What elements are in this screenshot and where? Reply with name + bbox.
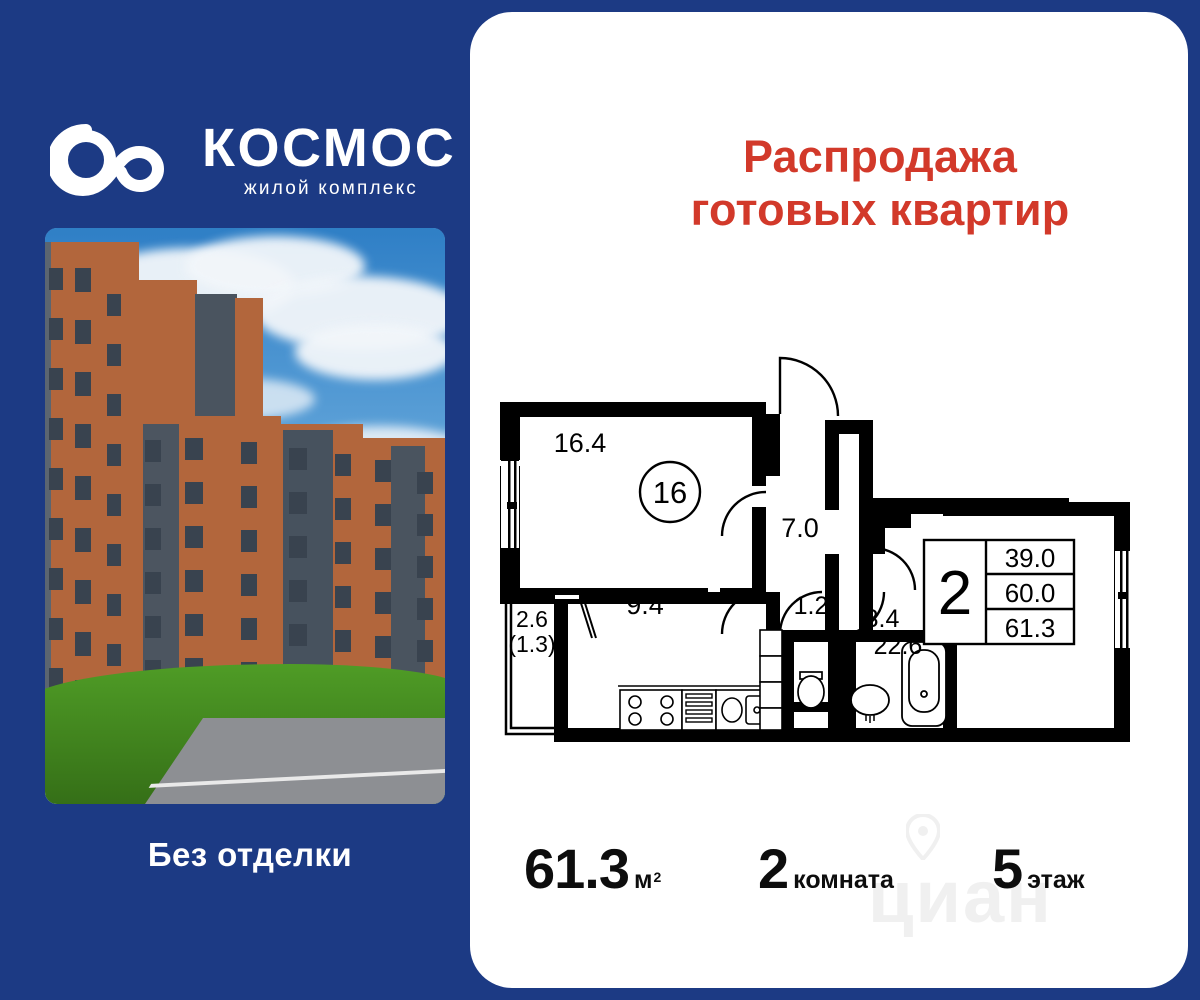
stat-area: 61.3м2 bbox=[524, 836, 661, 901]
window-grid bbox=[45, 228, 445, 728]
info-living-area: 39.0 bbox=[1005, 543, 1056, 573]
room-area-hall: 7.0 bbox=[781, 513, 819, 543]
room-area-balcony: 2.6 bbox=[516, 606, 548, 632]
poster-root: КОСМОС жилой комплекс bbox=[0, 0, 1200, 1000]
promo-headline-line1: Распродажа bbox=[600, 130, 1160, 183]
brand-title: КОСМОС bbox=[202, 120, 456, 176]
white-card: Распродажа готовых квартир bbox=[470, 12, 1188, 988]
info-total-area: 61.3 bbox=[1005, 613, 1056, 643]
room-marker-16: 16 bbox=[653, 475, 687, 510]
room-area-bathroom: 3.4 bbox=[865, 605, 900, 633]
room-area-kitchen: 9.4 bbox=[626, 590, 664, 620]
promo-headline-line2: готовых квартир bbox=[600, 183, 1160, 236]
room-area-balcony-reduced: (1.3) bbox=[508, 631, 555, 657]
left-blue-panel: КОСМОС жилой комплекс bbox=[0, 0, 500, 1000]
stat-rooms: 2комната bbox=[758, 836, 894, 901]
brand-logo: КОСМОС жилой комплекс bbox=[50, 118, 450, 214]
stat-floor: 5этаж bbox=[992, 836, 1085, 901]
stat-area-value: 61.3 bbox=[524, 837, 629, 900]
infinity-loop-icon bbox=[50, 124, 180, 196]
stat-floor-value: 5 bbox=[992, 837, 1022, 900]
residential-complex-photo bbox=[45, 228, 445, 804]
stat-floor-label: этаж bbox=[1027, 866, 1084, 894]
info-area-without-balcony: 60.0 bbox=[1005, 578, 1056, 608]
stat-rooms-label: комната bbox=[793, 866, 894, 894]
promo-headline: Распродажа готовых квартир bbox=[600, 130, 1160, 236]
room-area-bedroom: 16.4 bbox=[554, 428, 607, 458]
room-area-living-room: 22.6 bbox=[874, 632, 923, 660]
floorplan: 16.4 16 7.0 9.4 1.2 3.4 22.6 2.6 (1.3) 2… bbox=[470, 342, 1188, 742]
finish-type-caption: Без отделки bbox=[0, 836, 500, 874]
stat-area-unit: м bbox=[634, 866, 653, 894]
apartment-stats: 61.3м2 2комната 5этаж bbox=[470, 824, 1188, 920]
stat-rooms-value: 2 bbox=[758, 837, 788, 900]
brand-subtitle: жилой комплекс bbox=[244, 178, 456, 200]
room-area-wc: 1.2 bbox=[794, 592, 829, 620]
stat-area-unit-exponent: 2 bbox=[654, 869, 662, 885]
brand-logo-text: КОСМОС жилой комплекс bbox=[202, 120, 456, 200]
info-rooms-count: 2 bbox=[938, 559, 972, 628]
